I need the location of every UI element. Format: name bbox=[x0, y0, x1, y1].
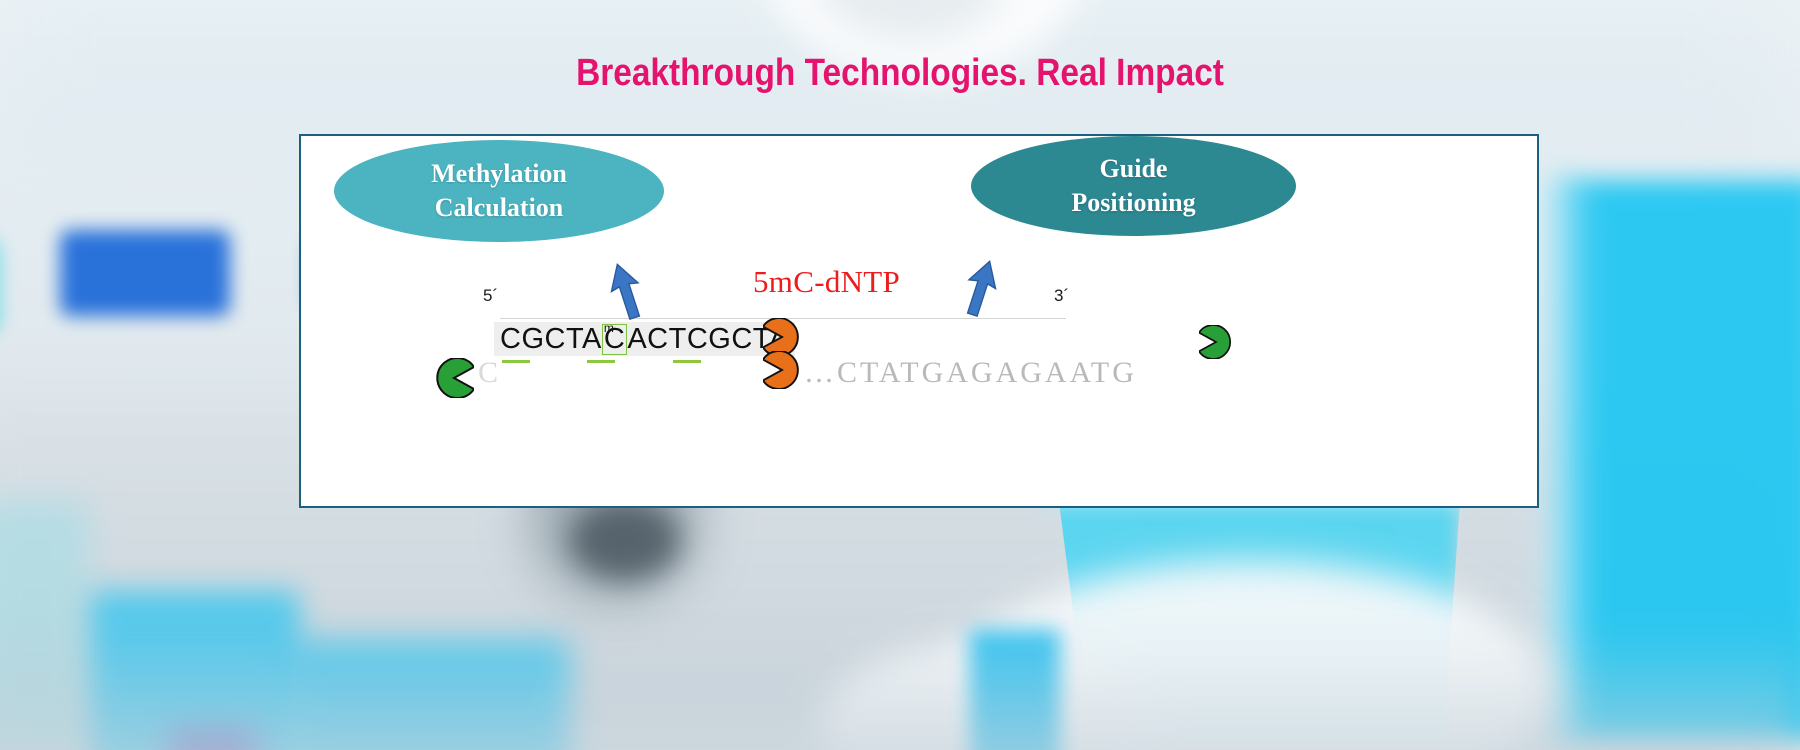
ellipse-right-line2: Positioning bbox=[1071, 186, 1195, 220]
label-3-prime: 3´ bbox=[1054, 286, 1069, 306]
top-strand-prefix: CGCTA bbox=[500, 323, 602, 356]
base-pair-bar-3 bbox=[673, 360, 701, 363]
background-dark-object bbox=[570, 500, 680, 580]
incorporation-arrow-left-icon bbox=[604, 261, 648, 326]
background-tube-blue-1 bbox=[60, 230, 230, 316]
screenshot-root: Breakthrough Technologies. Real Impact 5… bbox=[0, 0, 1800, 750]
ellipse-left-line1: Methylation bbox=[431, 157, 567, 191]
incorporation-arrow-right-icon bbox=[959, 258, 1003, 323]
top-strand-sequence: CGCTAmCACTCGCTA bbox=[494, 322, 795, 356]
bottom-strand-sequence: …CTATGAGAGAATG bbox=[804, 356, 1137, 390]
label-5mc-dntp: 5mC-dNTP bbox=[753, 264, 900, 300]
polymerase-green-right-icon bbox=[1199, 325, 1233, 359]
methyl-superscript: m bbox=[604, 322, 615, 334]
methylated-cytosine-box: mC bbox=[602, 324, 627, 355]
ellipse-left-line2: Calculation bbox=[435, 191, 564, 225]
page-headline: Breakthrough Technologies. Real Impact bbox=[108, 52, 1692, 95]
polymerase-orange-bottom-icon bbox=[763, 351, 801, 389]
base-pair-bar-2 bbox=[587, 360, 615, 363]
ellipse-right-line1: Guide bbox=[1100, 152, 1168, 186]
background-bench-surface bbox=[0, 630, 1800, 750]
bottom-strand-faint-base: C bbox=[478, 356, 498, 390]
polymerase-green-left-icon bbox=[434, 358, 474, 398]
base-pair-bar-1 bbox=[502, 360, 530, 363]
ellipse-methylation-calculation: Methylation Calculation bbox=[334, 140, 664, 242]
ellipse-guide-positioning: Guide Positioning bbox=[971, 136, 1296, 236]
label-5-prime: 5´ bbox=[483, 286, 498, 306]
